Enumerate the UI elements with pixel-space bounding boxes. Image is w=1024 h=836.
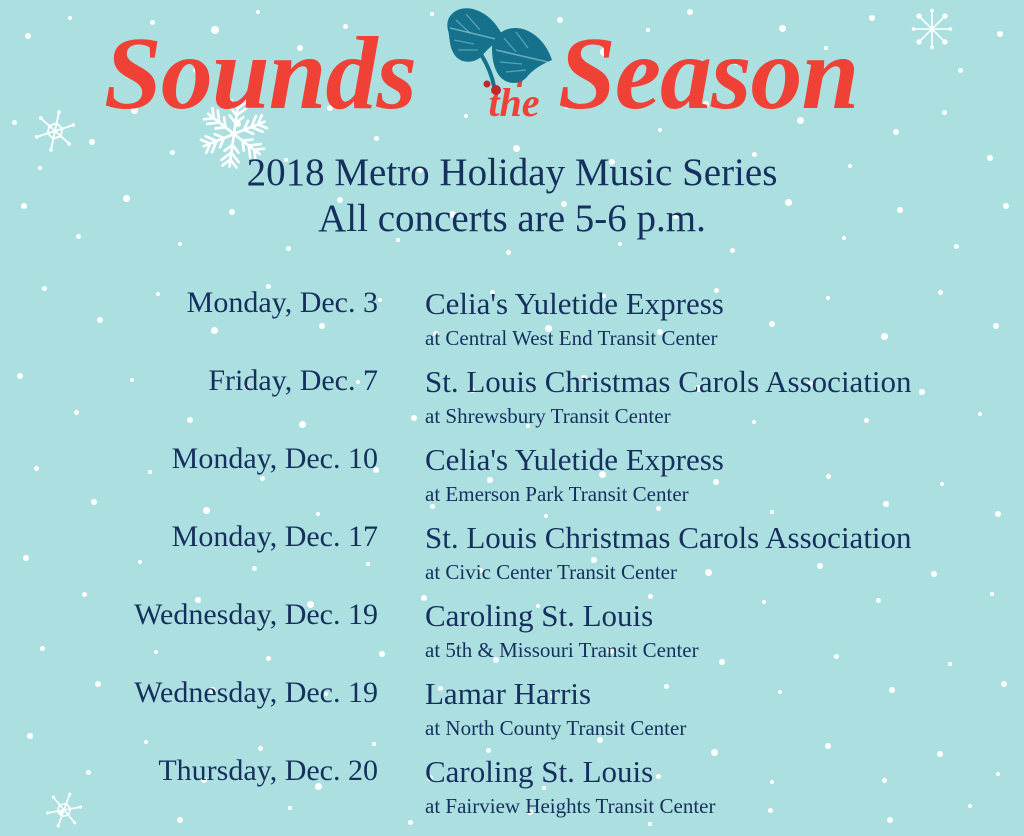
event-date: Monday, Dec. 10 xyxy=(0,444,378,474)
snow-dot xyxy=(730,248,735,253)
event-venue: at 5th & Missouri Transit Center xyxy=(425,640,1024,661)
title-word-season: Season xyxy=(558,22,858,126)
snow-dot xyxy=(374,136,379,141)
event-venue: at Shrewsbury Transit Center xyxy=(425,406,1024,427)
event-date: Thursday, Dec. 20 xyxy=(0,756,378,786)
poster-subtitle: 2018 Metro Holiday Music Series All conc… xyxy=(0,150,1024,242)
concert-schedule-list: Monday, Dec. 3Celia's Yuletide Expressat… xyxy=(0,288,1024,834)
snow-dot xyxy=(954,244,959,249)
holly-icon xyxy=(430,0,560,105)
event-venue: at Central West End Transit Center xyxy=(425,328,1024,349)
event-performer: Lamar Harris xyxy=(425,678,1024,709)
event-info: Celia's Yuletide Expressat Emerson Park … xyxy=(378,444,1024,505)
event-row: Wednesday, Dec. 19Lamar Harrisat North C… xyxy=(0,678,1024,756)
event-venue: at Civic Center Transit Center xyxy=(425,562,1024,583)
event-date: Friday, Dec. 7 xyxy=(0,366,378,396)
event-row: Monday, Dec. 10Celia's Yuletide Expressa… xyxy=(0,444,1024,522)
snow-dot xyxy=(618,242,622,246)
event-performer: Caroling St. Louis xyxy=(425,756,1024,787)
event-venue: at North County Transit Center xyxy=(425,718,1024,739)
event-performer: Celia's Yuletide Express xyxy=(425,288,1024,319)
snow-dot xyxy=(506,250,511,255)
event-date: Monday, Dec. 17 xyxy=(0,522,378,552)
event-info: St. Louis Christmas Carols Associationat… xyxy=(378,522,1024,583)
event-date: Monday, Dec. 3 xyxy=(0,288,378,318)
event-row: Monday, Dec. 17St. Louis Christmas Carol… xyxy=(0,522,1024,600)
event-venue: at Emerson Park Transit Center xyxy=(425,484,1024,505)
event-performer: Celia's Yuletide Express xyxy=(425,444,1024,475)
event-row: Friday, Dec. 7St. Louis Christmas Carols… xyxy=(0,366,1024,444)
snow-dot xyxy=(89,139,95,145)
snow-dot xyxy=(286,246,291,251)
event-performer: St. Louis Christmas Carols Association xyxy=(425,366,1024,397)
holiday-concert-poster: Sounds of the Season 2018 Metro Holiday … xyxy=(0,0,1024,836)
event-info: Lamar Harrisat North County Transit Cent… xyxy=(378,678,1024,739)
title-word-sounds: Sounds xyxy=(104,22,416,126)
subtitle-series-line: 2018 Metro Holiday Music Series xyxy=(0,150,1024,196)
event-info: Caroling St. Louisat Fairview Heights Tr… xyxy=(378,756,1024,817)
event-info: Celia's Yuletide Expressat Central West … xyxy=(378,288,1024,349)
snow-dot xyxy=(893,129,899,135)
event-row: Wednesday, Dec. 19Caroling St. Louisat 5… xyxy=(0,600,1024,678)
event-row: Thursday, Dec. 20Caroling St. Louisat Fa… xyxy=(0,756,1024,834)
event-date: Wednesday, Dec. 19 xyxy=(0,600,378,630)
event-performer: St. Louis Christmas Carols Association xyxy=(425,522,1024,553)
subtitle-time-line: All concerts are 5-6 p.m. xyxy=(0,196,1024,242)
event-performer: Caroling St. Louis xyxy=(425,600,1024,631)
event-row: Monday, Dec. 3Celia's Yuletide Expressat… xyxy=(0,288,1024,366)
event-info: St. Louis Christmas Carols Associationat… xyxy=(378,366,1024,427)
event-date: Wednesday, Dec. 19 xyxy=(0,678,378,708)
event-venue: at Fairview Heights Transit Center xyxy=(425,796,1024,817)
snow-dot xyxy=(178,242,182,246)
event-info: Caroling St. Louisat 5th & Missouri Tran… xyxy=(378,600,1024,661)
